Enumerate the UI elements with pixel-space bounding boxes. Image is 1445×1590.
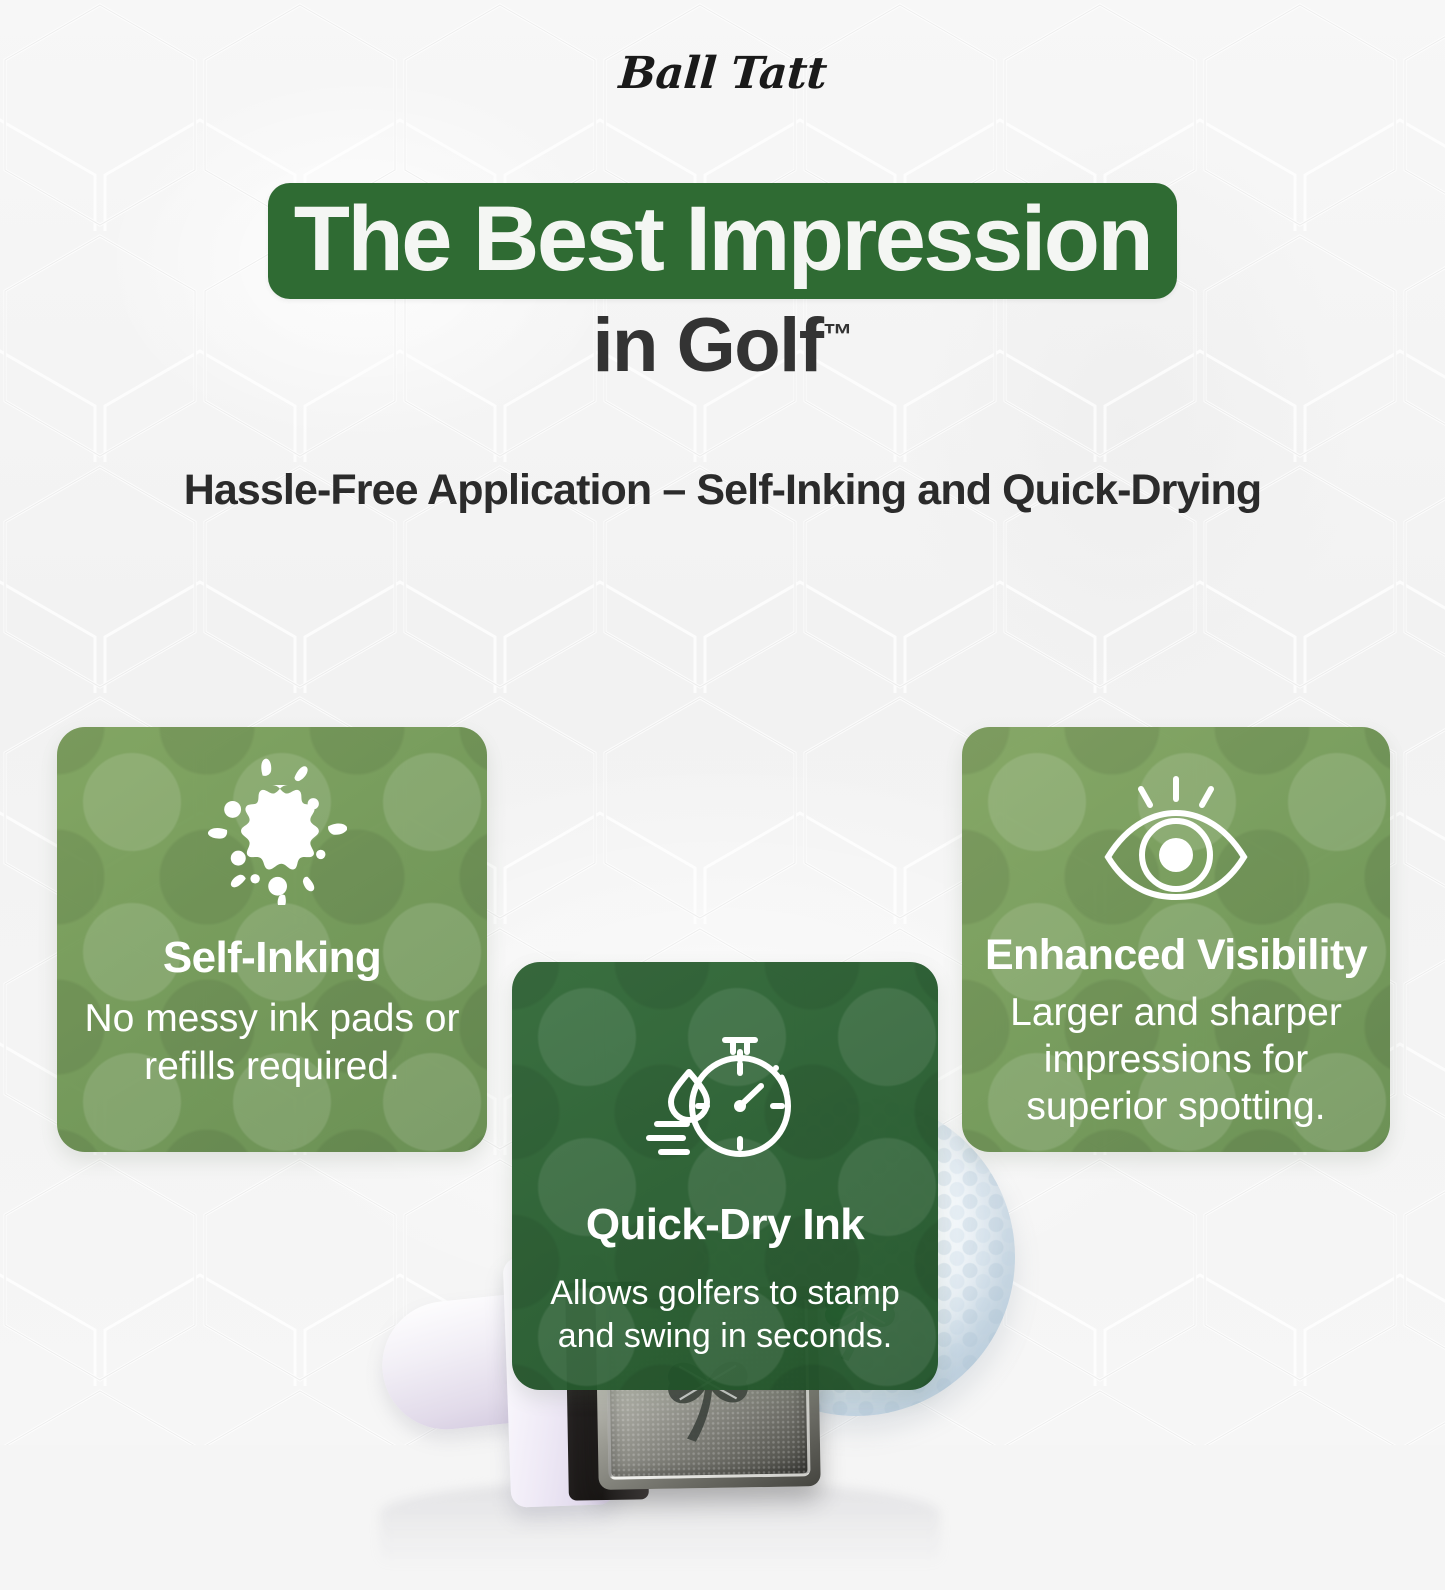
- trademark-symbol: ™: [823, 319, 853, 352]
- feature-description-line-1: Larger and sharper: [980, 990, 1372, 1037]
- brand-logo: Ball Tatt: [0, 48, 1445, 99]
- headline-banner-wrap: The Best Impression: [0, 183, 1445, 299]
- feature-description-line-2: refills required.: [73, 1043, 471, 1091]
- feature-description-line-1: Allows golfers to stamp: [534, 1272, 916, 1315]
- feature-card-content: Enhanced Visibility Larger and sharper i…: [962, 771, 1390, 1130]
- headline-banner: The Best Impression: [268, 183, 1177, 299]
- feature-description-line-2: impressions for: [980, 1037, 1372, 1084]
- feature-title: Quick-Dry Ink: [512, 1200, 938, 1250]
- feature-description: Larger and sharper impressions for super…: [962, 990, 1390, 1130]
- feature-card-self-inking[interactable]: Self-Inking No messy ink pads or refills…: [57, 727, 487, 1152]
- feature-description-line-2: and swing in seconds.: [534, 1315, 916, 1358]
- feature-description-line-1: No messy ink pads or: [73, 995, 471, 1043]
- feature-card-content: Self-Inking No messy ink pads or refills…: [57, 755, 487, 1090]
- eye-icon: [962, 771, 1390, 903]
- surface-reflection: [380, 1480, 940, 1590]
- stopwatch-droplet-icon: [512, 1024, 938, 1174]
- subheadline: Hassle-Free Application – Self-Inking an…: [0, 466, 1445, 515]
- headline-line1: The Best Impression: [294, 195, 1151, 283]
- headline-line2: in Golf: [592, 303, 822, 388]
- feature-title: Enhanced Visibility: [962, 931, 1390, 980]
- brand-logo-text: Ball Tatt: [617, 48, 828, 99]
- feature-card-enhanced-visibility[interactable]: Enhanced Visibility Larger and sharper i…: [962, 727, 1390, 1152]
- feature-title: Self-Inking: [57, 933, 487, 983]
- feature-description: No messy ink pads or refills required.: [57, 995, 487, 1090]
- headline-line2-wrap: in Golf™: [0, 302, 1445, 389]
- feature-card-content: Quick-Dry Ink Allows golfers to stamp an…: [512, 1024, 938, 1357]
- feature-card-quick-dry-ink[interactable]: Quick-Dry Ink Allows golfers to stamp an…: [512, 962, 938, 1390]
- feature-description: Allows golfers to stamp and swing in sec…: [512, 1272, 938, 1357]
- ink-splat-icon: [57, 755, 487, 905]
- feature-description-line-3: superior spotting.: [980, 1084, 1372, 1131]
